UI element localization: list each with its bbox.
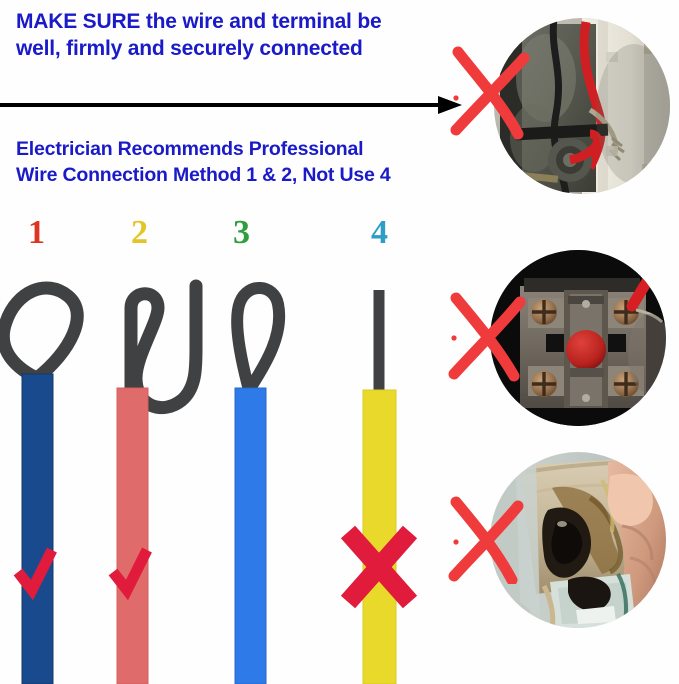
method-number-2: 2 bbox=[131, 216, 148, 250]
method-2-wire-jacket bbox=[117, 388, 148, 684]
headline-line-2: well, firmly and securely connected bbox=[16, 35, 363, 62]
method-number-4: 4 bbox=[371, 216, 388, 250]
method-number-3: 3 bbox=[233, 216, 250, 250]
method-3-wire-jacket bbox=[235, 388, 266, 684]
method-3-graphic bbox=[235, 288, 279, 684]
headline-line-1: MAKE SURE the wire and terminal be bbox=[16, 8, 381, 35]
method-4-wire-jacket bbox=[363, 390, 396, 684]
subtitle-line-1: Electrician Recommends Professional bbox=[16, 136, 363, 162]
subtitle-line-2: Wire Connection Method 1 & 2, Not Use 4 bbox=[16, 162, 390, 188]
poster-canvas: MAKE SURE the wire and terminal be well,… bbox=[0, 0, 679, 684]
method-2-graphic bbox=[113, 286, 196, 684]
method-1-graphic bbox=[3, 288, 77, 684]
photo-1-cross-icon bbox=[450, 42, 540, 140]
photo-2-cross-icon bbox=[448, 288, 534, 382]
photo-3-cross-icon bbox=[448, 490, 534, 584]
wire-method-diagram bbox=[0, 260, 450, 684]
right-arrow-icon bbox=[0, 92, 470, 118]
method-3-conductor-loop bbox=[237, 288, 279, 390]
method-1-wire-jacket bbox=[22, 374, 53, 684]
method-4-graphic bbox=[348, 290, 410, 684]
method-1-conductor-loop bbox=[3, 288, 77, 378]
method-number-1: 1 bbox=[28, 216, 45, 250]
